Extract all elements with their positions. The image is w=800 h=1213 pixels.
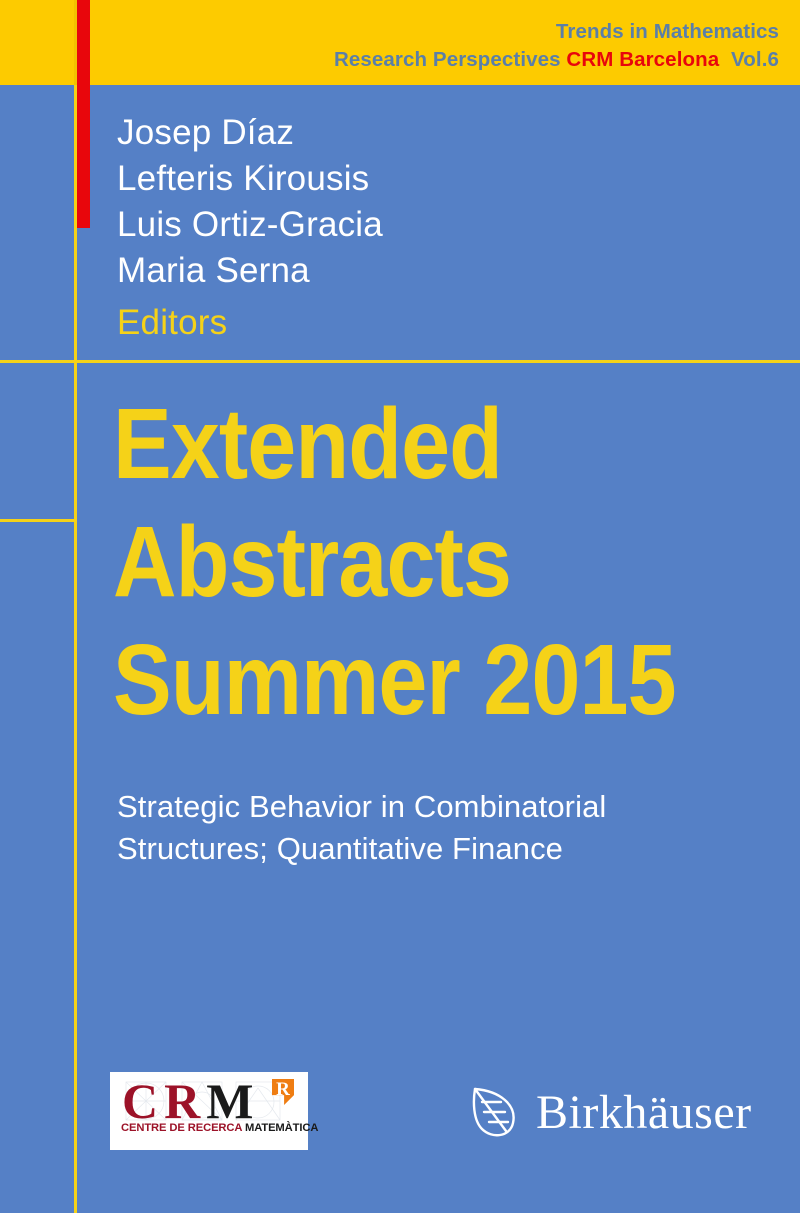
editor-name: Lefteris Kirousis [117, 156, 383, 202]
crm-letter-c: C [122, 1073, 164, 1129]
subtitle-line: Strategic Behavior in Combinatorial [117, 786, 606, 828]
title-line: Abstracts [113, 503, 676, 621]
crm-letters: CRM [122, 1076, 259, 1126]
crm-logo: CRM R CENTRE DE RECERCA MATEMÀTICA [110, 1072, 308, 1150]
publisher-name: Birkhäuser [536, 1088, 752, 1138]
book-subtitle: Strategic Behavior in Combinatorial Stru… [117, 786, 606, 870]
crm-letter-m: M [206, 1073, 259, 1129]
grid-rule-horizontal-upper [0, 360, 800, 363]
series-title: Trends in Mathematics [556, 20, 779, 44]
editors-block: Josep Díaz Lefteris Kirousis Luis Ortiz-… [117, 110, 383, 346]
series-banner: Trends in Mathematics Research Perspecti… [0, 0, 800, 85]
crm-letter-r: R [164, 1073, 206, 1129]
book-cover: Trends in Mathematics Research Perspecti… [0, 0, 800, 1213]
series-subtitle: Research Perspectives CRM Barcelona Vol.… [334, 48, 779, 72]
crm-tagline-red: CENTRE DE RECERCA [121, 1122, 245, 1134]
leaf-icon [470, 1085, 522, 1141]
editor-name: Josep Díaz [117, 110, 383, 156]
series-subtitle-prefix: Research Perspectives [334, 48, 561, 71]
grid-rule-vertical [74, 85, 77, 1213]
series-brand: CRM Barcelona [566, 48, 719, 71]
grid-rule-horizontal-lower [0, 519, 77, 522]
series-volume: Vol.6 [731, 48, 779, 71]
editors-role-label: Editors [117, 300, 383, 346]
red-accent-bar [77, 0, 90, 228]
crm-lettermark: CRM R [118, 1078, 300, 1124]
title-line: Summer 2015 [113, 621, 676, 739]
publisher-logo: Birkhäuser [470, 1085, 752, 1141]
editor-name: Maria Serna [117, 248, 383, 294]
crm-tagline: CENTRE DE RECERCA MATEMÀTICA [118, 1122, 300, 1134]
subtitle-line: Structures; Quantitative Finance [117, 828, 606, 870]
crm-registered-badge: R [272, 1079, 294, 1105]
title-line: Extended [113, 385, 676, 503]
crm-tagline-dark: MATEMÀTICA [245, 1122, 318, 1134]
book-title: Extended Abstracts Summer 2015 [113, 385, 752, 739]
editor-name: Luis Ortiz-Gracia [117, 202, 383, 248]
